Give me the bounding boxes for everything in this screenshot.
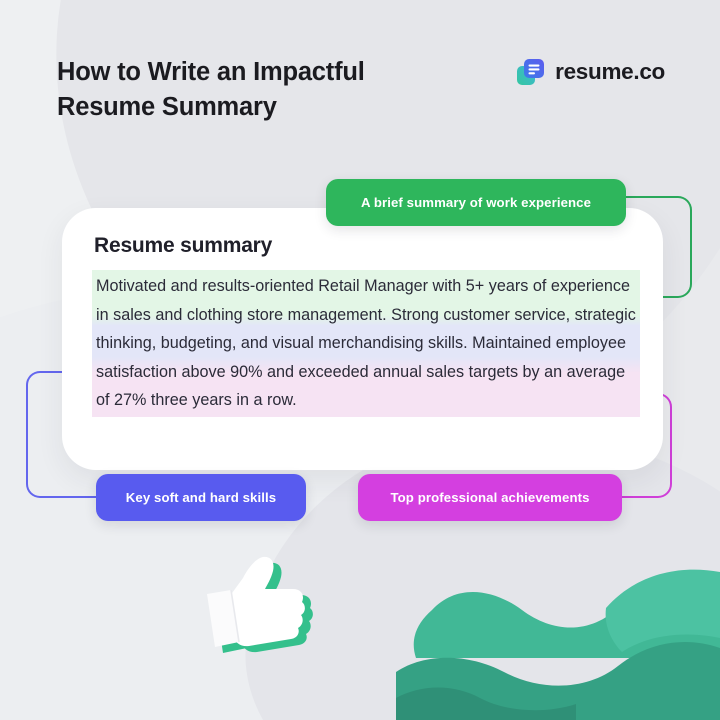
document-card-icon xyxy=(516,57,546,87)
page-title-line-1: How to Write an Impactful xyxy=(57,55,417,90)
thumbs-up-icon xyxy=(205,556,325,671)
brand-logo: resume.co xyxy=(516,57,665,87)
brand-name: resume.co xyxy=(555,59,665,85)
page-title: How to Write an Impactful Resume Summary xyxy=(57,55,417,125)
badge-skills-label: Key soft and hard skills xyxy=(126,490,276,505)
badge-work-experience[interactable]: A brief summary of work experience xyxy=(326,179,626,226)
badge-work-experience-label: A brief summary of work experience xyxy=(361,195,591,210)
infographic-canvas: How to Write an Impactful Resume Summary xyxy=(0,0,720,720)
badge-skills[interactable]: Key soft and hard skills xyxy=(96,474,306,521)
page-title-line-2: Resume Summary xyxy=(57,90,417,125)
leaves-decoration xyxy=(396,548,720,720)
resume-summary-text: Motivated and results-oriented Retail Ma… xyxy=(92,270,640,417)
card-heading: Resume summary xyxy=(94,234,272,258)
resume-summary-card: Resume summary Motivated and results-ori… xyxy=(62,208,663,470)
badge-achievements-label: Top professional achievements xyxy=(390,490,589,505)
badge-achievements[interactable]: Top professional achievements xyxy=(358,474,622,521)
